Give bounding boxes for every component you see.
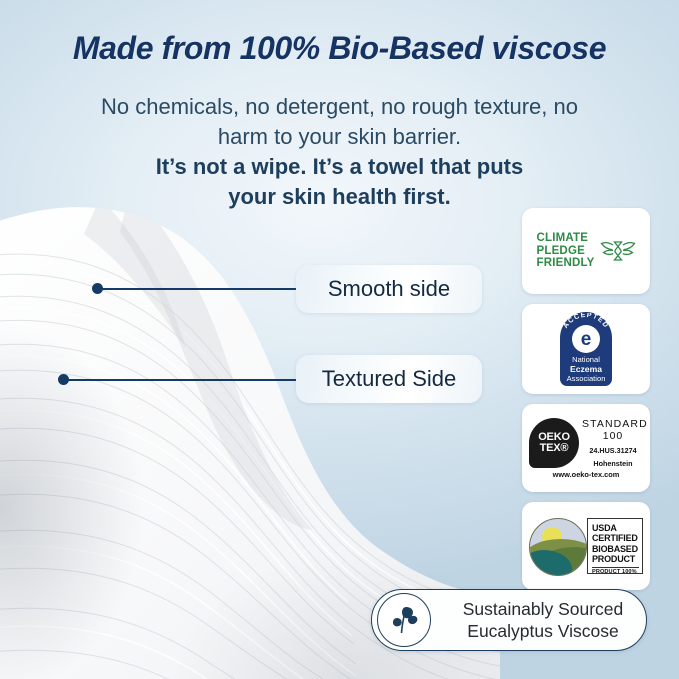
eczema-line-2: Eczema xyxy=(553,365,619,375)
oeko-tex-details: STANDARD 100 24.HUS.31274 Hohenstein xyxy=(582,418,644,468)
oeko-institute: Hohenstein xyxy=(582,459,644,468)
oeko-mark-line-2: TEX® xyxy=(538,443,570,455)
leader-line-smooth xyxy=(98,288,298,290)
badge-oeko-tex-standard-100: OEKO TEX® STANDARD 100 24.HUS.31274 Hohe… xyxy=(522,404,650,492)
oeko-standard-number: 100 xyxy=(582,430,644,442)
climate-pledge-line-3: FRIENDLY xyxy=(536,257,594,270)
subtitle-bold-line-1: It’s not a wipe. It’s a towel that puts xyxy=(90,152,589,182)
pill-line-2: Eucalyptus Viscose xyxy=(440,620,646,642)
winged-hourglass-icon xyxy=(600,236,636,266)
climate-pledge-line-1: CLIMATE xyxy=(536,232,594,245)
page-title: Made from 100% Bio-Based viscose xyxy=(0,30,679,67)
badge-usda-certified-biobased: USDA CERTIFIED BIOBASED PRODUCT PRODUCT … xyxy=(522,502,650,590)
eczema-emblem: e xyxy=(572,325,600,353)
callout-smooth-side: Smooth side xyxy=(296,265,482,313)
eucalyptus-leaf-icon xyxy=(387,603,421,637)
oeko-standard-label: STANDARD xyxy=(582,418,644,430)
badge-climate-pledge-friendly: CLIMATE PLEDGE FRIENDLY xyxy=(522,208,650,294)
badge-national-eczema-association: ACCEPTED e National Eczema Association xyxy=(522,304,650,394)
oeko-tex-mark: OEKO TEX® xyxy=(529,418,579,468)
callout-smooth-side-label: Smooth side xyxy=(328,276,450,302)
leader-line-textured xyxy=(64,379,298,381)
usda-line-2: CERTIFIED xyxy=(592,533,639,543)
callout-textured-side-label: Textured Side xyxy=(322,366,457,392)
pill-line-1: Sustainably Sourced xyxy=(440,598,646,620)
leader-dot-textured xyxy=(58,374,69,385)
product-infographic: Made from 100% Bio-Based viscose No chem… xyxy=(0,0,679,679)
eczema-line-3: Association xyxy=(553,374,619,384)
usda-line-3: BIOBASED xyxy=(592,544,639,554)
subtitle-bold-line-2: your skin health first. xyxy=(90,182,589,212)
usda-footnote: PRODUCT 100% xyxy=(592,567,639,576)
subtitle-block: No chemicals, no detergent, no rough tex… xyxy=(90,92,589,212)
subtitle-line-1: No chemicals, no detergent, no rough xyxy=(101,94,468,119)
certification-badge-list: CLIMATE PLEDGE FRIENDLY xyxy=(522,208,650,600)
pill-label: Sustainably Sourced Eucalyptus Viscose xyxy=(440,598,646,642)
oeko-certificate-number: 24.HUS.31274 xyxy=(582,446,644,455)
pill-sustainably-sourced: Sustainably Sourced Eucalyptus Viscose xyxy=(371,589,647,651)
usda-text-box: USDA CERTIFIED BIOBASED PRODUCT PRODUCT … xyxy=(587,518,643,574)
callout-textured-side: Textured Side xyxy=(296,355,482,403)
oeko-url: www.oeko-tex.com xyxy=(527,470,645,479)
climate-pledge-line-2: PLEDGE xyxy=(536,245,594,258)
climate-pledge-text: CLIMATE PLEDGE FRIENDLY xyxy=(536,232,594,270)
usda-line-4: PRODUCT xyxy=(592,554,639,564)
leader-dot-smooth xyxy=(92,283,103,294)
usda-line-1: USDA xyxy=(592,523,639,533)
eucalyptus-icon-circle xyxy=(377,593,431,647)
eczema-text: National Eczema Association xyxy=(553,355,619,384)
farm-field-sun-icon xyxy=(529,518,587,576)
